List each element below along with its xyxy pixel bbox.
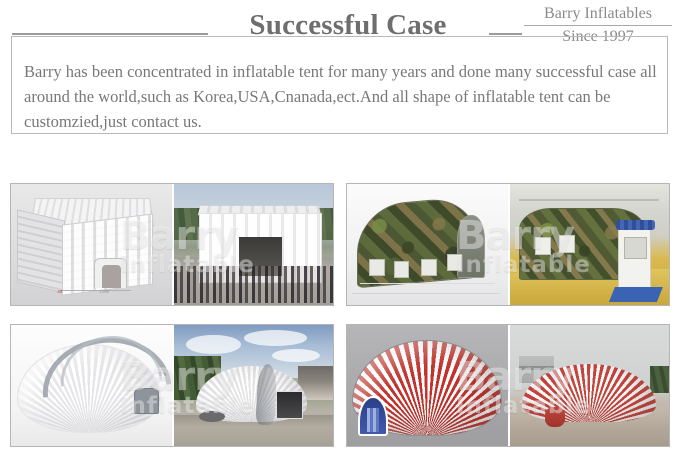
crowd-of-people [174,266,333,302]
dimension-line [60,290,131,291]
camo-window [447,254,463,271]
camo-window [394,261,410,278]
white-cube-tent-photo [172,184,333,305]
gallery-card-white-dome-tent[interactable] [10,324,334,447]
brand-name: Barry Inflatables [524,4,672,24]
cube-side-wall [17,209,65,294]
image-gallery: 2M 4.08M [0,183,680,449]
camo-window [559,235,575,253]
gallery-card-striped-dome-tent[interactable] [346,324,670,447]
inflatable-base [545,407,566,426]
dome-arch-band [58,332,163,386]
camouflage-tent-photo [508,184,669,305]
entrance-mat [609,287,663,302]
cloud [244,330,308,346]
title-rule-right [489,33,522,35]
cube-entrance [94,258,127,289]
striped-dome-photo [508,325,669,446]
cube-tent-drawing: 2M 4.08M [14,196,168,295]
cloud [186,335,240,354]
camouflage-tent-cad-image [347,184,508,305]
dimension-label-length: 4.08M [100,290,110,295]
page-header: Successful Case Barry Inflatables Since … [0,0,680,140]
tree-line [650,366,669,393]
camo-window [535,237,551,255]
door-awning [616,220,654,230]
dimension-line [360,283,495,284]
dimension-label-width: 2M [58,290,63,295]
white-cube-tent-cad-image: 2M 4.08M [11,184,172,305]
intro-text: Barry has been concentrated in inflatabl… [24,59,660,134]
white-dome-photo [172,325,333,446]
inflatable-base [199,411,224,422]
door-window [624,237,647,258]
dome-entrance [358,396,388,436]
dome-entrance [276,391,303,420]
dimension-line [352,293,500,294]
striped-dome-cad-image [347,325,508,446]
title-rule-left [12,33,208,35]
dome-entrance [134,388,158,414]
camo-window [369,259,385,276]
white-dome-cad-image [11,325,172,446]
gallery-card-white-cube-tent[interactable]: 2M 4.08M [10,183,334,306]
camo-window [421,259,437,276]
gallery-card-camouflage-tunnel-tent[interactable] [346,183,670,306]
